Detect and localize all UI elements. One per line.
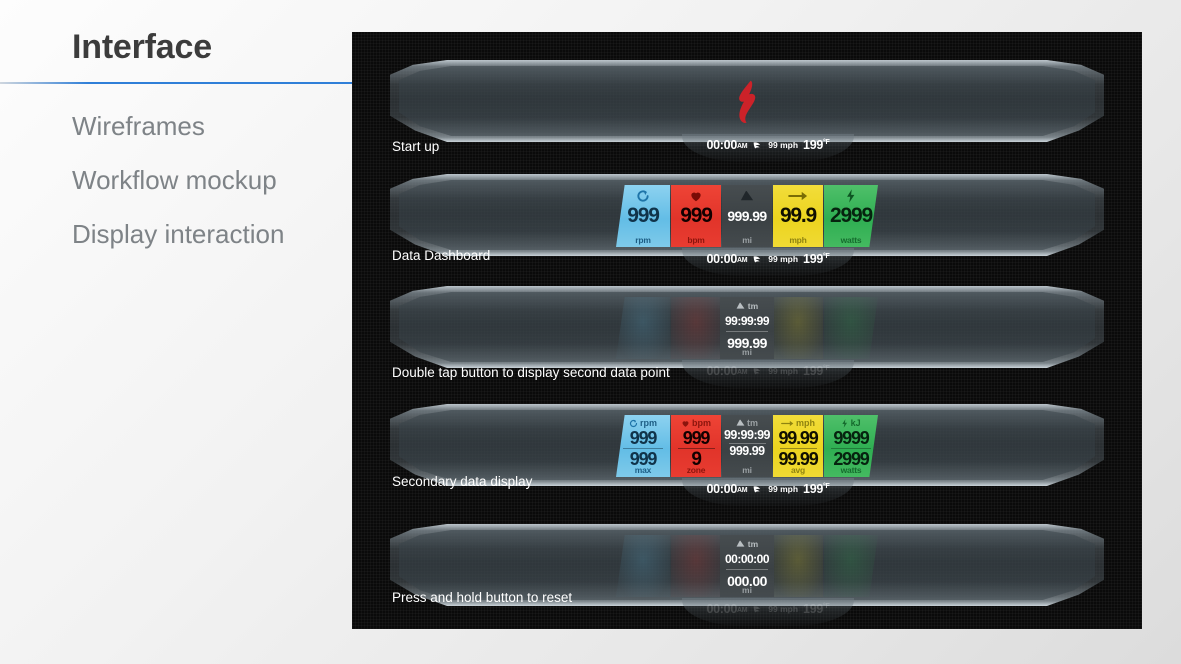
screen-caption: Press and hold button to reset bbox=[392, 590, 572, 605]
tile-primary-value: 99:99:99 bbox=[724, 429, 770, 442]
cadence-circular-arrow-icon bbox=[636, 188, 650, 204]
dimmed-tile bbox=[616, 535, 670, 597]
status-ampm: AM bbox=[737, 369, 747, 376]
status-strip: 00:00AM99 mph199°F bbox=[682, 362, 854, 380]
secondary-tile-tm[interactable]: tm99:99:99999.99mi bbox=[722, 415, 772, 477]
status-ampm: AM bbox=[737, 143, 747, 150]
timer-elapsed-value: 00:00:00 bbox=[725, 552, 769, 566]
status-wind-speed: 99 mph bbox=[768, 140, 798, 150]
status-degree-unit: °F bbox=[823, 365, 829, 372]
dimmed-tile bbox=[773, 297, 823, 359]
tile-value: 999 bbox=[627, 205, 658, 226]
status-ampm: AM bbox=[737, 257, 747, 264]
mountain-icon bbox=[740, 188, 754, 204]
mountain-icon bbox=[736, 302, 745, 309]
timer-unit: mi bbox=[742, 585, 752, 595]
status-time: 00:00AM bbox=[707, 602, 748, 616]
tile-unit: mi bbox=[722, 465, 772, 475]
status-time: 00:00AM bbox=[707, 252, 748, 266]
status-wind-speed: 99 mph bbox=[768, 366, 798, 376]
secondary-data-tile-row: rpm999999maxbpm9999zonetm99:99:99999.99m… bbox=[616, 415, 878, 477]
timer-tile[interactable]: tm00:00:00000.00mi bbox=[720, 535, 774, 597]
screen-caption: Secondary data display bbox=[392, 474, 532, 489]
status-strip: 00:00AM99 mph199°F bbox=[682, 480, 854, 498]
tile-unit: bpm bbox=[671, 235, 721, 245]
tile-primary-value: 999 bbox=[683, 429, 709, 447]
bike-computer-display-1[interactable]: 00:00AM99 mph199°F bbox=[390, 60, 1104, 142]
tile-label: tm bbox=[747, 419, 758, 428]
arrow-right-icon bbox=[788, 188, 808, 204]
status-wind-speed: 99 mph bbox=[768, 604, 798, 614]
heart-icon bbox=[689, 188, 703, 204]
tile-unit: mi bbox=[722, 235, 772, 245]
secondary-tile-mph[interactable]: mph99.9999.99avg bbox=[773, 415, 823, 477]
dimmed-tile bbox=[824, 297, 878, 359]
tile-value: 2999 bbox=[830, 205, 872, 226]
tile-label: kJ bbox=[851, 419, 861, 428]
status-ampm: AM bbox=[737, 607, 747, 614]
dimmed-tile bbox=[671, 297, 721, 359]
tile-label: bpm bbox=[692, 419, 711, 428]
mountain-icon bbox=[736, 540, 745, 547]
screen-caption: Double tap button to display second data… bbox=[392, 365, 670, 380]
dimmed-tile bbox=[616, 297, 670, 359]
tile-unit: max bbox=[616, 465, 670, 475]
sidebar-item-display-interaction[interactable]: Display interaction bbox=[72, 211, 352, 257]
status-temperature: 199°F bbox=[803, 252, 829, 266]
secondary-tile-rpm[interactable]: rpm999999max bbox=[616, 415, 670, 477]
status-ampm: AM bbox=[737, 487, 747, 494]
status-strip: 00:00AM99 mph199°F bbox=[682, 600, 854, 618]
timer-header: tm bbox=[736, 300, 758, 311]
tile-value: 999.99 bbox=[727, 209, 766, 223]
page-title: Interface bbox=[72, 28, 212, 67]
data-tile-rpm[interactable]: 999rpm bbox=[616, 185, 670, 247]
sidebar-nav: Wireframes Workflow mockup Display inter… bbox=[72, 103, 352, 265]
tile-unit: watts bbox=[824, 465, 878, 475]
data-tile-row: 999rpm999bpm999.99mi99.9mph2999watts bbox=[616, 185, 878, 247]
wind-icon bbox=[752, 366, 763, 377]
mockup-row-5: tm00:00:00000.00mi00:00AM99 mph199°FPres… bbox=[352, 524, 1142, 629]
tile-label: rpm bbox=[640, 419, 657, 428]
status-strip: 00:00AM99 mph199°F bbox=[682, 136, 854, 154]
wind-icon bbox=[752, 484, 763, 495]
status-degree-unit: °F bbox=[823, 139, 829, 146]
timer-header: tm bbox=[736, 538, 758, 549]
status-degree-unit: °F bbox=[823, 253, 829, 260]
tile-value: 99.9 bbox=[780, 205, 816, 226]
tile-unit: mph bbox=[773, 235, 823, 245]
secondary-tile-bpm[interactable]: bpm9999zone bbox=[671, 415, 721, 477]
wind-icon bbox=[752, 604, 763, 615]
data-tile-watts[interactable]: 2999watts bbox=[824, 185, 878, 247]
status-strip: 00:00AM99 mph199°F bbox=[682, 250, 854, 268]
tile-unit: watts bbox=[824, 235, 878, 245]
mockup-panel: 00:00AM99 mph199°FStart up999rpm999bpm99… bbox=[352, 32, 1142, 629]
tile-unit: rpm bbox=[616, 235, 670, 245]
timer-tile[interactable]: tm99:99:99999.99mi bbox=[720, 297, 774, 359]
status-time: 00:00AM bbox=[707, 364, 748, 378]
bike-computer-display-2[interactable]: 999rpm999bpm999.99mi99.9mph2999watts00:0… bbox=[390, 174, 1104, 256]
timer-unit: mi bbox=[742, 347, 752, 357]
data-tile-mph[interactable]: 99.9mph bbox=[773, 185, 823, 247]
timer-label: tm bbox=[748, 301, 758, 311]
status-time: 00:00AM bbox=[707, 138, 748, 152]
tile-primary-value: 99.99 bbox=[778, 429, 817, 447]
status-wind-speed: 99 mph bbox=[768, 484, 798, 494]
bike-computer-display-3[interactable]: tm99:99:99999.99mi00:00AM99 mph199°F bbox=[390, 286, 1104, 368]
dimmed-tile bbox=[824, 535, 878, 597]
cadence-circular-arrow-icon bbox=[629, 418, 638, 429]
status-degree-unit: °F bbox=[823, 483, 829, 490]
data-tile-bpm[interactable]: 999bpm bbox=[671, 185, 721, 247]
lightning-bolt-icon bbox=[841, 418, 848, 429]
arrow-right-icon bbox=[781, 418, 794, 429]
tile-value: 999 bbox=[680, 205, 711, 226]
status-time: 00:00AM bbox=[707, 482, 748, 496]
screen-caption: Data Dashboard bbox=[392, 248, 490, 263]
mockup-row-3: tm99:99:99999.99mi00:00AM99 mph199°FDoub… bbox=[352, 286, 1142, 396]
secondary-tile-kJ[interactable]: kJ99992999watts bbox=[824, 415, 878, 477]
tile-secondary-value: 999.99 bbox=[729, 445, 764, 458]
timer-divider bbox=[726, 331, 767, 332]
mockup-row-1: 00:00AM99 mph199°FStart up bbox=[352, 60, 1142, 170]
status-temperature: 199°F bbox=[803, 602, 829, 616]
wind-icon bbox=[752, 140, 763, 151]
timer-elapsed-value: 99:99:99 bbox=[725, 314, 769, 328]
timer-divider bbox=[726, 569, 767, 570]
lightning-bolt-icon bbox=[845, 188, 856, 204]
status-wind-speed: 99 mph bbox=[768, 254, 798, 264]
title-divider bbox=[0, 82, 352, 84]
tile-unit: zone bbox=[671, 465, 721, 475]
screen-caption: Start up bbox=[392, 139, 439, 154]
tile-label: mph bbox=[796, 419, 815, 428]
dimmed-tile bbox=[671, 535, 721, 597]
wind-icon bbox=[752, 254, 763, 265]
mockup-row-4: rpm999999maxbpm9999zonetm99:99:99999.99m… bbox=[352, 404, 1142, 514]
data-tile-mi[interactable]: 999.99mi bbox=[722, 185, 772, 247]
tile-primary-value: 999 bbox=[630, 429, 656, 447]
specialized-s-logo bbox=[734, 80, 760, 124]
status-temperature: 199°F bbox=[803, 482, 829, 496]
heart-icon bbox=[681, 418, 690, 429]
mountain-icon bbox=[736, 418, 745, 429]
sidebar-item-workflow-mockup[interactable]: Workflow mockup bbox=[72, 157, 352, 203]
mockup-row-2: 999rpm999bpm999.99mi99.9mph2999watts00:0… bbox=[352, 174, 1142, 284]
dimmed-tile bbox=[773, 535, 823, 597]
status-degree-unit: °F bbox=[823, 603, 829, 610]
status-temperature: 199°F bbox=[803, 364, 829, 378]
sidebar-item-wireframes[interactable]: Wireframes bbox=[72, 103, 352, 149]
tile-unit: avg bbox=[773, 465, 823, 475]
timer-label: tm bbox=[748, 539, 758, 549]
sidebar: Interface Wireframes Workflow mockup Dis… bbox=[0, 0, 352, 664]
status-temperature: 199°F bbox=[803, 138, 829, 152]
tile-primary-value: 9999 bbox=[833, 429, 868, 447]
